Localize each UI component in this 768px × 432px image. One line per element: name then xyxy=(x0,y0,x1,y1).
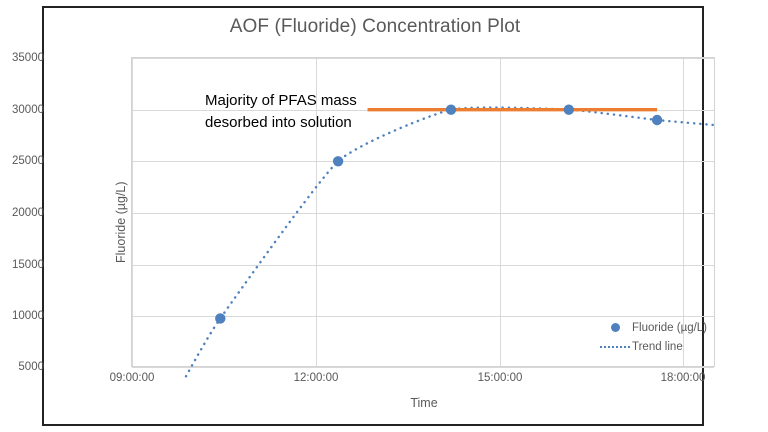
xtick-1200: 12:00:00 xyxy=(294,372,339,384)
ytick-25000: 25000 xyxy=(0,155,44,167)
legend-dot-icon xyxy=(598,323,632,332)
legend-dotted-line-icon xyxy=(598,346,632,348)
data-point-1[interactable] xyxy=(333,156,343,166)
chart-annotation: Majority of PFAS mass desorbed into solu… xyxy=(205,90,357,134)
chart-legend: Fluoride (µg/L) Trend line xyxy=(598,318,728,356)
xtick-1800: 18:00:00 xyxy=(661,372,706,384)
data-point-4[interactable] xyxy=(652,115,662,125)
ytick-20000: 20000 xyxy=(0,207,44,219)
ytick-30000: 30000 xyxy=(0,104,44,116)
x-axis-label: Time xyxy=(132,396,716,410)
legend-label-fluoride: Fluoride (µg/L) xyxy=(632,322,707,334)
legend-item-trend-line[interactable]: Trend line xyxy=(598,337,728,356)
y-axis-label: Fluoride (µg/L) xyxy=(114,181,128,263)
ytick-10000: 10000 xyxy=(0,310,44,322)
xtick-0900: 09:00:00 xyxy=(110,372,155,384)
ytick-35000: 35000 xyxy=(0,52,44,64)
data-points xyxy=(215,105,662,324)
legend-item-fluoride[interactable]: Fluoride (µg/L) xyxy=(598,318,728,337)
slide-canvas: AOF (Fluoride) Concentration Plot 35000 … xyxy=(0,0,768,432)
chart-title: AOF (Fluoride) Concentration Plot xyxy=(44,16,706,38)
data-point-0[interactable] xyxy=(215,313,225,323)
ytick-5000: 5000 xyxy=(0,361,44,373)
plot-area: 35000 30000 25000 20000 15000 10000 5000… xyxy=(131,57,715,367)
xtick-1500: 15:00:00 xyxy=(478,372,523,384)
data-point-3[interactable] xyxy=(564,105,574,115)
legend-label-trend-line: Trend line xyxy=(632,341,683,353)
data-point-2[interactable] xyxy=(446,105,456,115)
ytick-15000: 15000 xyxy=(0,259,44,271)
chart-card: AOF (Fluoride) Concentration Plot 35000 … xyxy=(42,6,704,426)
